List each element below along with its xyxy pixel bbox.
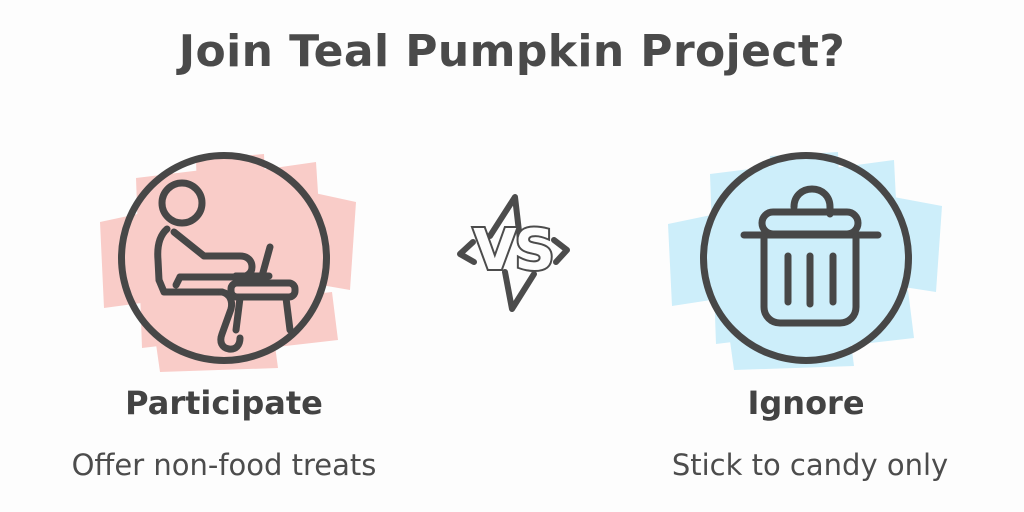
option-ignore-badge <box>646 140 966 376</box>
option-participate-label: Participate <box>64 384 384 422</box>
option-participate-description: Offer non-food treats <box>14 448 434 482</box>
option-participate-badge <box>64 140 384 376</box>
versus-spark-marks <box>448 178 578 323</box>
page-title: Join Teal Pumpkin Project? <box>0 26 1024 77</box>
versus-badge: VS <box>448 178 578 323</box>
trash-can-icon <box>700 152 912 364</box>
option-ignore[interactable] <box>646 140 966 390</box>
option-ignore-label: Ignore <box>646 384 966 422</box>
infographic-canvas: Join Teal Pumpkin Project? <box>0 0 1024 512</box>
option-ignore-description: Stick to candy only <box>600 448 1020 482</box>
person-at-desk-icon <box>118 152 330 364</box>
option-participate[interactable] <box>64 140 384 390</box>
